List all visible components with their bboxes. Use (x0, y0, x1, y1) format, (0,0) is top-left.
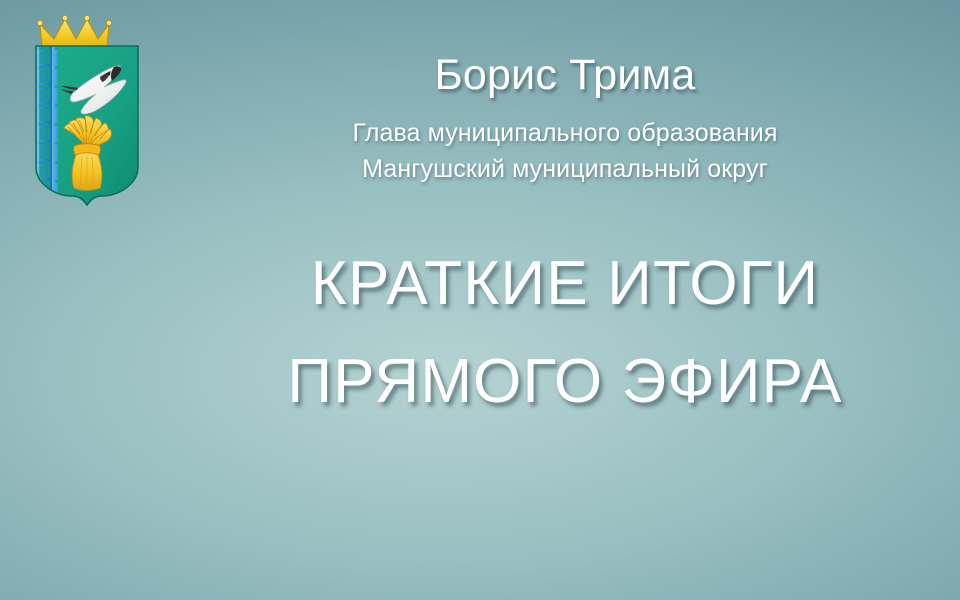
coat-of-arms (16, 8, 158, 214)
role-line-2: Мангушский муниципальный округ (170, 152, 960, 188)
role-block: Глава муниципального образования Мангушс… (170, 98, 960, 187)
role-line-1: Глава муниципального образования (170, 116, 960, 152)
slide-text-block: Борис Трима Глава муниципального образов… (170, 0, 960, 600)
person-name: Борис Трима (170, 0, 960, 98)
headline-block: КРАТКИЕ ИТОГИ ПРЯМОГО ЭФИРА (170, 187, 960, 431)
headline-line-1: КРАТКИЕ ИТОГИ (170, 235, 960, 333)
headline-line-2: ПРЯМОГО ЭФИРА (170, 333, 960, 431)
shield (36, 46, 138, 205)
meander-band-icon (36, 46, 58, 198)
presentation-slide: Борис Трима Глава муниципального образов… (0, 0, 960, 600)
